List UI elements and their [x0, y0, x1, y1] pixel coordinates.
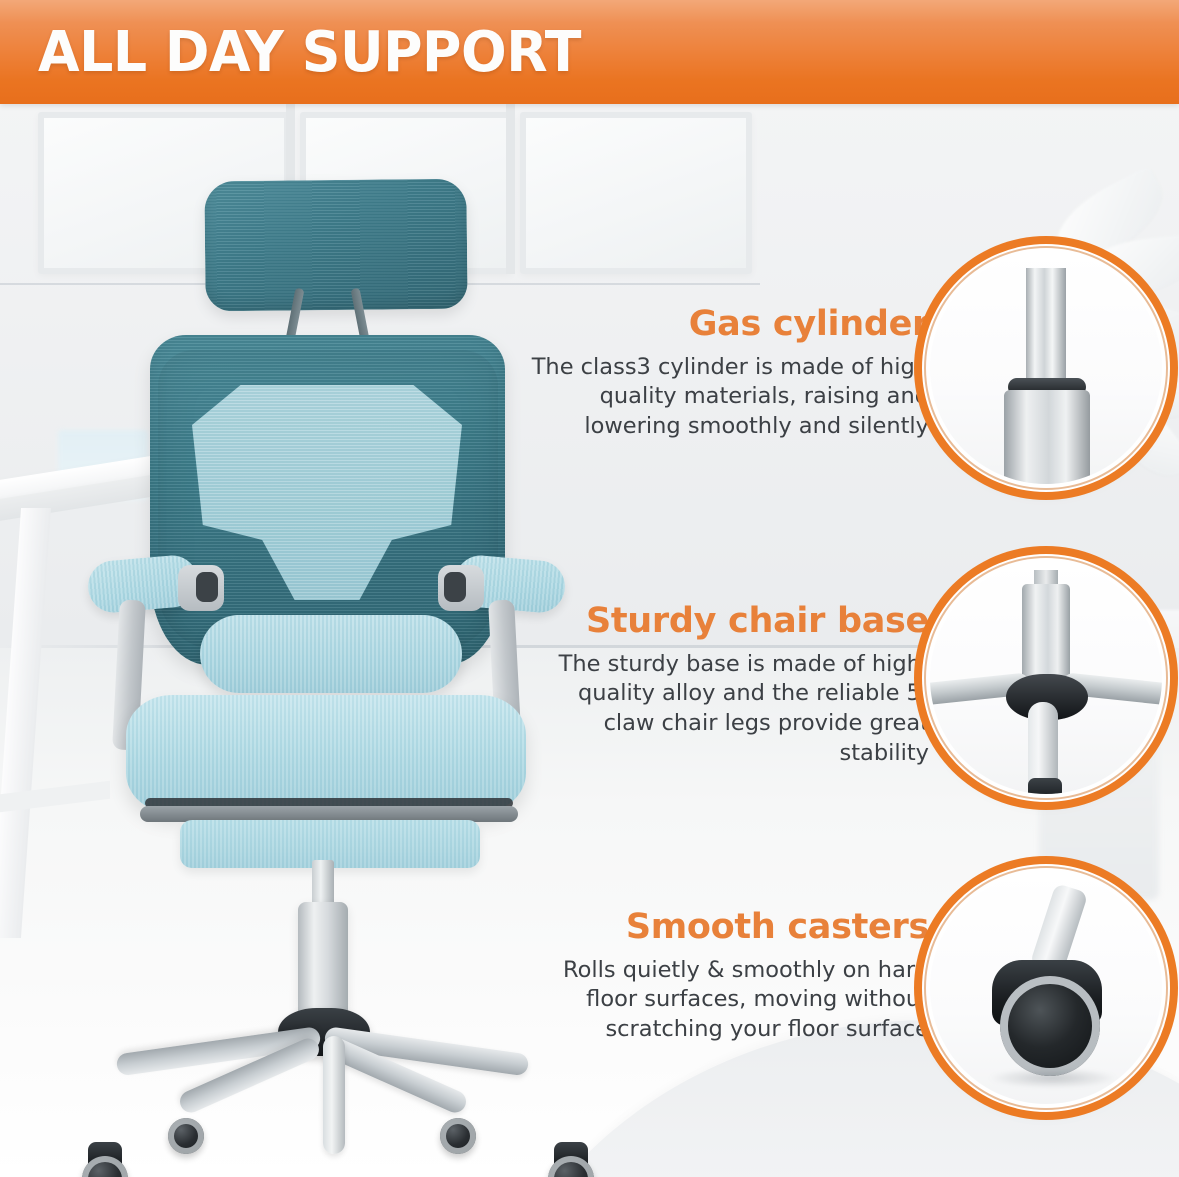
armrest-knuckle [444, 572, 466, 602]
feature-smooth-casters: Smooth casters Rolls quietly & smoothly … [529, 908, 929, 1045]
infographic-canvas: ALL DAY SUPPORT [0, 0, 1179, 1177]
header-banner: ALL DAY SUPPORT [0, 0, 1179, 104]
feature-gas-cylinder: Gas cylinder The class3 cylinder is made… [529, 305, 929, 442]
callout-gas-cylinder-photo [930, 252, 1162, 484]
product-chair [40, 160, 600, 1160]
seat-cushion [126, 695, 526, 813]
caster-tire-icon [1000, 976, 1100, 1076]
armrest-knuckle [196, 572, 218, 602]
banner-title: ALL DAY SUPPORT [38, 20, 581, 85]
feature-title: Sturdy chair base [529, 602, 929, 641]
gas-lift-cylinder [298, 902, 348, 1022]
callout-caster-wheel-photo [930, 872, 1162, 1104]
feature-body: The class3 cylinder is made of high qual… [529, 353, 929, 443]
lumbar-support [200, 615, 462, 693]
feature-title: Smooth casters [529, 908, 929, 947]
base-leg [323, 1036, 345, 1154]
feature-body: The sturdy base is made of high-quality … [529, 650, 929, 770]
feature-body: Rolls quietly & smoothly on hard floor s… [529, 956, 929, 1046]
caster-wheel [440, 1118, 476, 1154]
feature-sturdy-chair-base: Sturdy chair base The sturdy base is mad… [529, 602, 929, 769]
feature-title: Gas cylinder [529, 305, 929, 344]
callout-chair-base-photo [930, 562, 1162, 794]
base-cylinder-icon [1022, 584, 1070, 680]
gas-cylinder-rod-icon [1026, 268, 1066, 386]
gas-cylinder-body-icon [1004, 390, 1090, 484]
caster-wheel [168, 1118, 204, 1154]
chair-headrest [204, 179, 467, 312]
base-leg-foot-icon [1028, 778, 1062, 794]
caster-shadow [988, 1068, 1118, 1088]
